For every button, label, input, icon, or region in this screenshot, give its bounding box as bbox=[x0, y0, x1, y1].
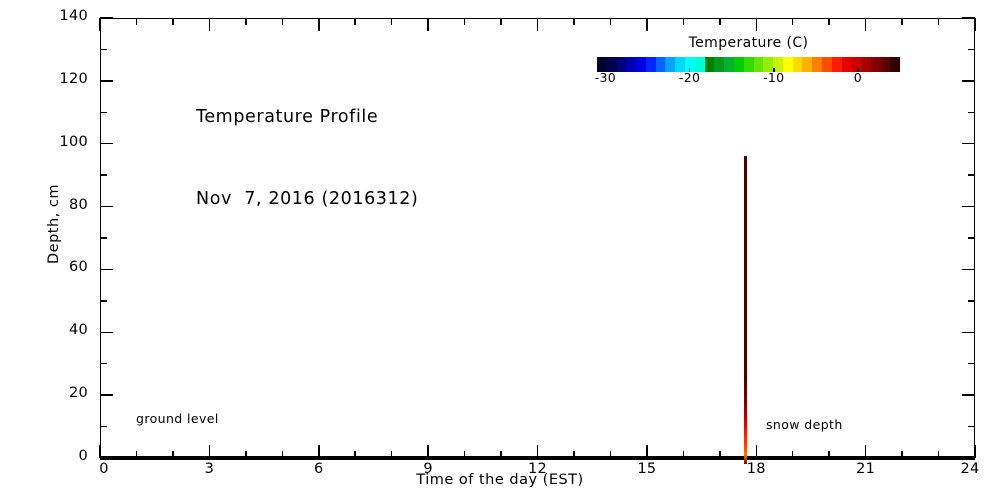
y-tick-major bbox=[100, 80, 113, 82]
x-tick-top bbox=[646, 18, 648, 31]
colorbar-band bbox=[861, 57, 871, 72]
colorbar-band bbox=[793, 57, 803, 72]
y-tick-right bbox=[968, 112, 975, 114]
snow-depth-annotation: snow depth bbox=[766, 417, 843, 432]
ground-level-annotation: ground level bbox=[136, 411, 219, 426]
x-tick-top bbox=[464, 18, 466, 25]
chart-canvas: Temperature Profile Nov 7, 2016 (2016312… bbox=[0, 0, 1000, 500]
colorbar-band bbox=[626, 57, 636, 72]
y-tick-label: 0 bbox=[78, 448, 88, 464]
x-tick-top bbox=[318, 18, 320, 31]
y-tick-minor bbox=[100, 363, 107, 365]
colorbar-band bbox=[714, 57, 724, 72]
colorbar-band bbox=[812, 57, 822, 72]
x-tick-top bbox=[792, 18, 794, 25]
colorbar-tick-label: -20 bbox=[679, 70, 700, 85]
x-tick-label: 21 bbox=[856, 461, 875, 477]
y-tick-right bbox=[968, 237, 975, 239]
colorbar-tick-label: -30 bbox=[595, 70, 616, 85]
y-tick-label: 140 bbox=[59, 8, 88, 24]
y-tick-right bbox=[968, 49, 975, 51]
colorbar-band bbox=[734, 57, 744, 72]
chart-title-line1: Temperature Profile bbox=[196, 104, 418, 131]
y-tick-minor bbox=[100, 237, 107, 239]
y-tick-right bbox=[962, 332, 975, 334]
x-axis-label: Time of the day (EST) bbox=[0, 472, 1000, 488]
y-axis-label: Depth, cm bbox=[46, 144, 62, 304]
y-tick-minor bbox=[100, 426, 107, 428]
colorbar-band bbox=[871, 57, 881, 72]
y-tick-major bbox=[100, 17, 113, 19]
y-tick-label: 60 bbox=[69, 259, 88, 275]
y-tick-label: 80 bbox=[69, 197, 88, 213]
colorbar-band bbox=[705, 57, 715, 72]
x-tick-top bbox=[282, 18, 284, 25]
y-tick-right bbox=[962, 394, 975, 396]
x-tick-top bbox=[974, 18, 976, 31]
y-tick-right bbox=[968, 363, 975, 365]
x-tick-label: 9 bbox=[423, 461, 433, 477]
x-tick-label: 15 bbox=[637, 461, 656, 477]
y-tick-minor bbox=[100, 300, 107, 302]
colorbar-band bbox=[822, 57, 832, 72]
y-tick-right bbox=[968, 174, 975, 176]
x-tick-label: 6 bbox=[314, 461, 324, 477]
x-tick-top bbox=[865, 18, 867, 31]
colorbar-band bbox=[832, 57, 842, 72]
ground-level-line bbox=[100, 456, 975, 460]
colorbar-band bbox=[656, 57, 666, 72]
y-tick-label: 100 bbox=[59, 134, 88, 150]
x-tick-top bbox=[99, 18, 101, 31]
x-tick-top bbox=[427, 18, 429, 31]
x-tick-top bbox=[573, 18, 575, 25]
x-tick-top bbox=[209, 18, 211, 31]
y-tick-right bbox=[962, 143, 975, 145]
x-tick-top bbox=[136, 18, 138, 25]
x-tick-top bbox=[537, 18, 539, 31]
colorbar-title: Temperature (C) bbox=[597, 35, 900, 51]
chart-title: Temperature Profile Nov 7, 2016 (2016312… bbox=[196, 50, 418, 267]
y-tick-right bbox=[962, 80, 975, 82]
colorbar-tick-label: -10 bbox=[763, 70, 784, 85]
x-tick-top bbox=[756, 18, 758, 31]
y-tick-major bbox=[100, 206, 113, 208]
colorbar-band bbox=[665, 57, 675, 72]
colorbar-band bbox=[842, 57, 852, 72]
x-tick-top bbox=[391, 18, 393, 25]
y-tick-right bbox=[968, 300, 975, 302]
colorbar-band bbox=[724, 57, 734, 72]
temperature-profile-column bbox=[744, 156, 747, 464]
y-tick-label: 40 bbox=[69, 322, 88, 338]
chart-title-line2: Nov 7, 2016 (2016312) bbox=[196, 186, 418, 213]
y-tick-label: 120 bbox=[59, 71, 88, 87]
colorbar-band bbox=[802, 57, 812, 72]
x-tick-label: 24 bbox=[960, 461, 979, 477]
x-tick-top bbox=[719, 18, 721, 25]
colorbar-band bbox=[646, 57, 656, 72]
y-tick-major bbox=[100, 394, 113, 396]
y-tick-minor bbox=[100, 49, 107, 51]
y-tick-major bbox=[100, 143, 113, 145]
x-tick-label: 0 bbox=[99, 461, 109, 477]
y-tick-major bbox=[100, 269, 113, 271]
x-tick-top bbox=[245, 18, 247, 25]
y-tick-label: 20 bbox=[69, 385, 88, 401]
x-tick-top bbox=[828, 18, 830, 25]
y-tick-minor bbox=[100, 174, 107, 176]
y-tick-right bbox=[962, 269, 975, 271]
x-tick-label: 12 bbox=[528, 461, 547, 477]
y-tick-right bbox=[968, 426, 975, 428]
x-tick-top bbox=[938, 18, 940, 25]
colorbar-band bbox=[636, 57, 646, 72]
colorbar-band bbox=[881, 57, 891, 72]
colorbar-band bbox=[744, 57, 754, 72]
y-tick-right bbox=[962, 17, 975, 19]
x-tick-label: 18 bbox=[747, 461, 766, 477]
x-tick-top bbox=[172, 18, 174, 25]
x-tick-top bbox=[354, 18, 356, 25]
colorbar-band bbox=[617, 57, 627, 72]
colorbar-band bbox=[890, 57, 900, 72]
y-tick-minor bbox=[100, 112, 107, 114]
x-tick-top bbox=[500, 18, 502, 25]
y-tick-major bbox=[100, 332, 113, 334]
y-tick-right bbox=[962, 206, 975, 208]
colorbar-band bbox=[754, 57, 764, 72]
x-tick-label: 3 bbox=[205, 461, 215, 477]
colorbar-tick-label: 0 bbox=[854, 70, 862, 85]
x-tick-top bbox=[901, 18, 903, 25]
x-tick-top bbox=[610, 18, 612, 25]
x-tick-top bbox=[683, 18, 685, 25]
